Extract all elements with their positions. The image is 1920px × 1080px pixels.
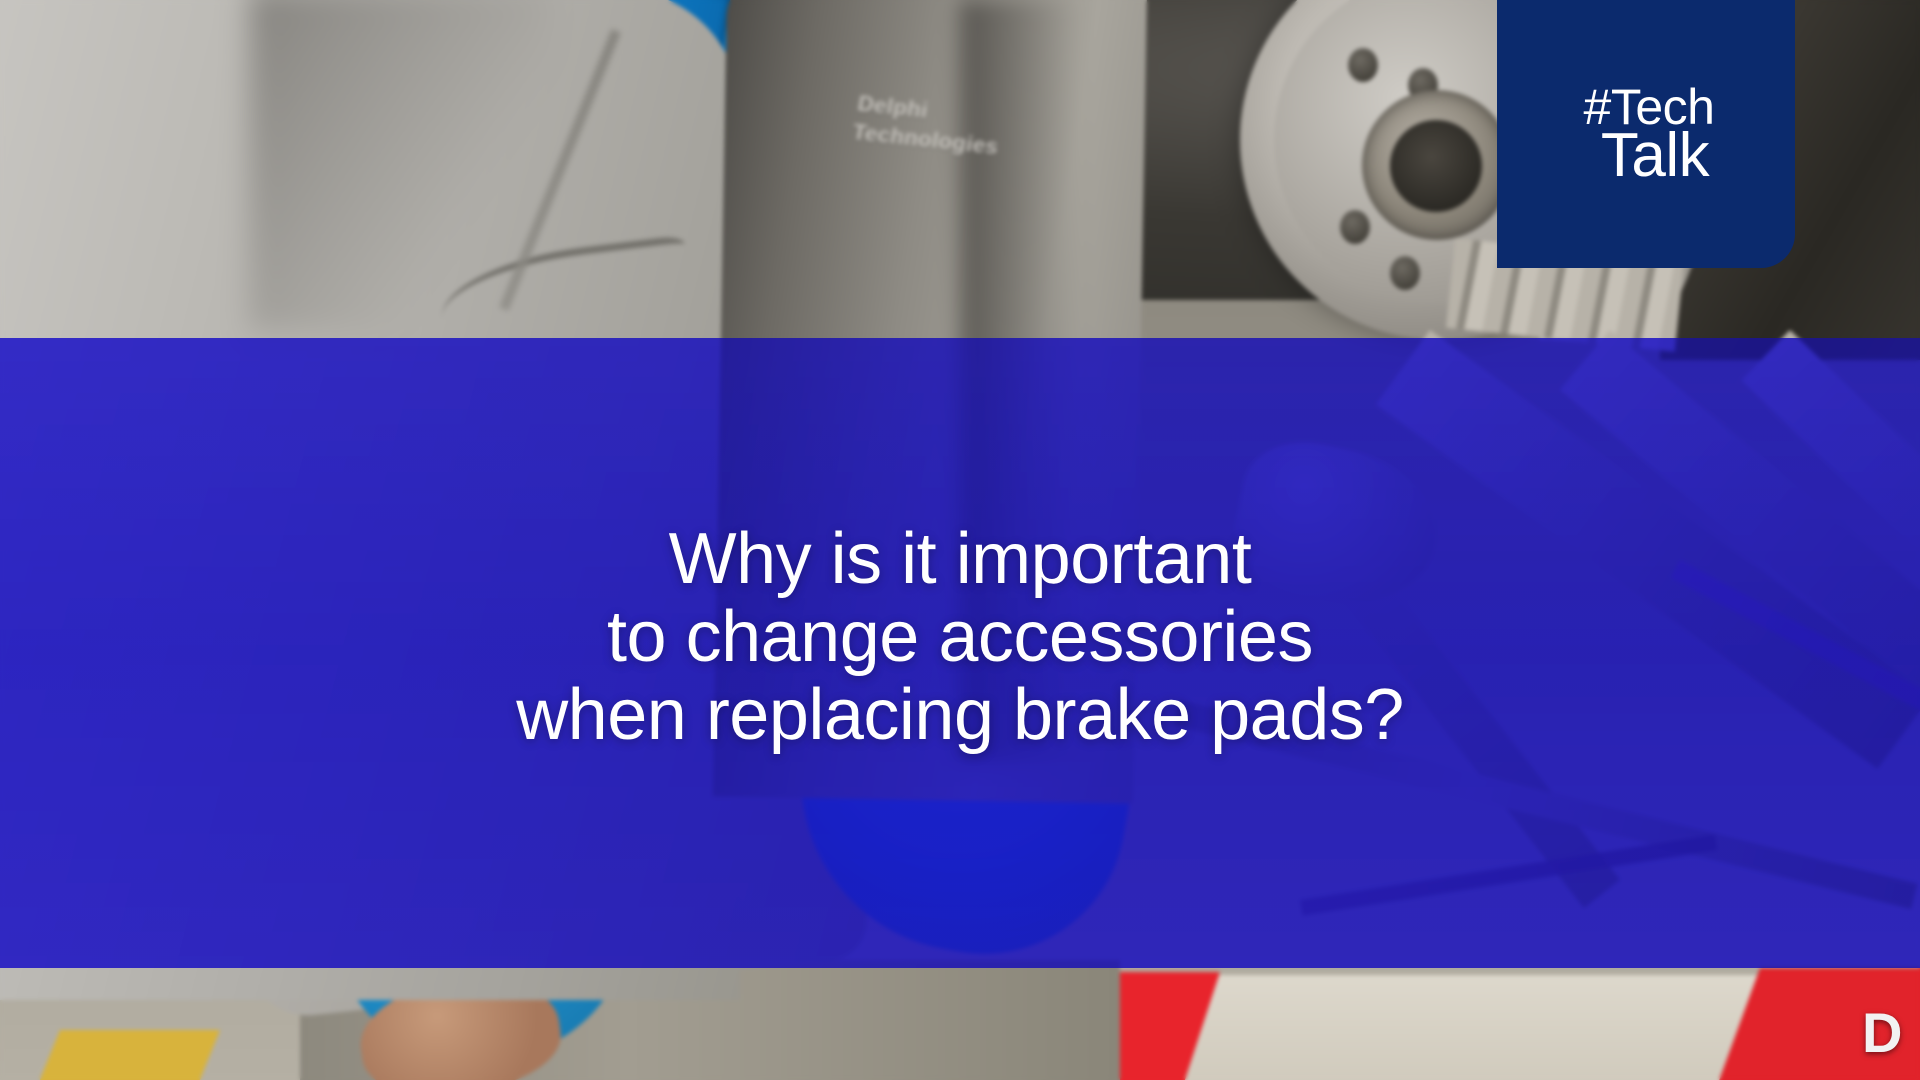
techtalk-badge-line2: Talk: [1601, 127, 1709, 184]
headline-line-1: Why is it important: [0, 520, 1920, 598]
headline-line-3: when replacing brake pads?: [0, 676, 1920, 754]
headline-line2-light: to change: [607, 597, 938, 677]
headline: Why is it important to change accessorie…: [0, 520, 1920, 754]
video-frame: Delphi Technologies #Tech Talk Why is it…: [0, 0, 1920, 1080]
headline-line-2: to change accessories: [0, 598, 1920, 676]
headline-line1-light: Why is it: [669, 519, 956, 599]
delphi-watermark: D: [1862, 1005, 1900, 1061]
headline-line2-bold: accessories: [938, 597, 1313, 677]
headline-line3-light: when replacing: [516, 675, 1013, 755]
headline-line1-bold: important: [956, 519, 1252, 599]
headline-line3-tail: ?: [1364, 675, 1404, 755]
headline-line3-bold: brake pads: [1013, 675, 1364, 755]
techtalk-badge: #Tech Talk: [1497, 0, 1795, 268]
